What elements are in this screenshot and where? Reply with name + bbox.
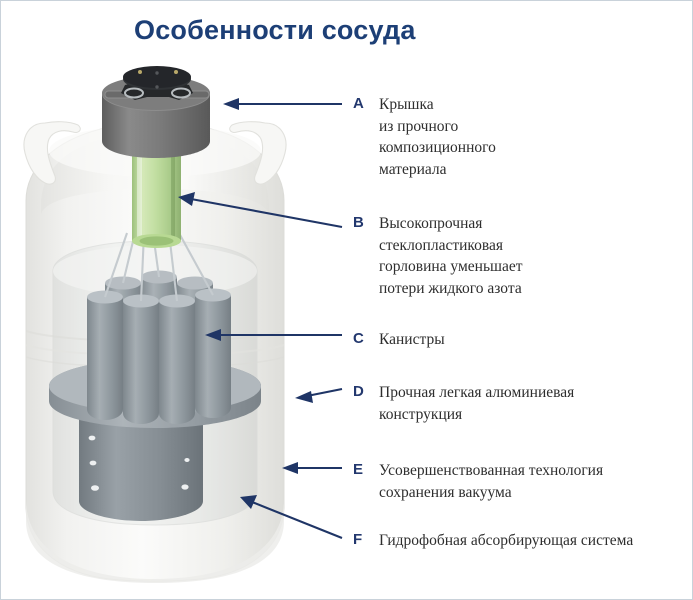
legend-item-a: A Крышка из прочного композиционного мат…	[353, 94, 496, 180]
legend-item-d: D Прочная легкая алюминиевая конструкция	[353, 382, 574, 425]
legend-text-b: Высокопрочная стеклопластиковая горловин…	[379, 213, 522, 299]
legend-letter-f: F	[353, 530, 379, 549]
legend-item-c: C Канистры	[353, 329, 445, 351]
diagram-page: Особенности сосуда	[0, 0, 693, 600]
legend-item-e: E Усовершенствованная технология сохране…	[353, 460, 603, 503]
legend-letter-e: E	[353, 460, 379, 479]
legend-item-b: B Высокопрочная стеклопластиковая горлов…	[353, 213, 522, 299]
legend-item-f: F Гидрофобная абсорбирующая система	[353, 530, 633, 552]
legend-letter-c: C	[353, 329, 379, 348]
legend-text-d: Прочная легкая алюминиевая конструкция	[379, 382, 574, 425]
leader-arrow-a	[223, 98, 342, 110]
legend-text-f: Гидрофобная абсорбирующая система	[379, 530, 633, 552]
legend-letter-b: B	[353, 213, 379, 232]
leader-arrow-e	[282, 462, 342, 474]
vessel-illustration	[1, 1, 361, 600]
leader-arrow-d	[295, 389, 342, 403]
legend-letter-d: D	[353, 382, 379, 401]
legend-text-a: Крышка из прочного композиционного матер…	[379, 94, 496, 180]
lid	[102, 66, 210, 158]
legend-text-e: Усовершенствованная технология сохранени…	[379, 460, 603, 503]
legend-text-c: Канистры	[379, 329, 445, 351]
legend-letter-a: A	[353, 94, 379, 113]
